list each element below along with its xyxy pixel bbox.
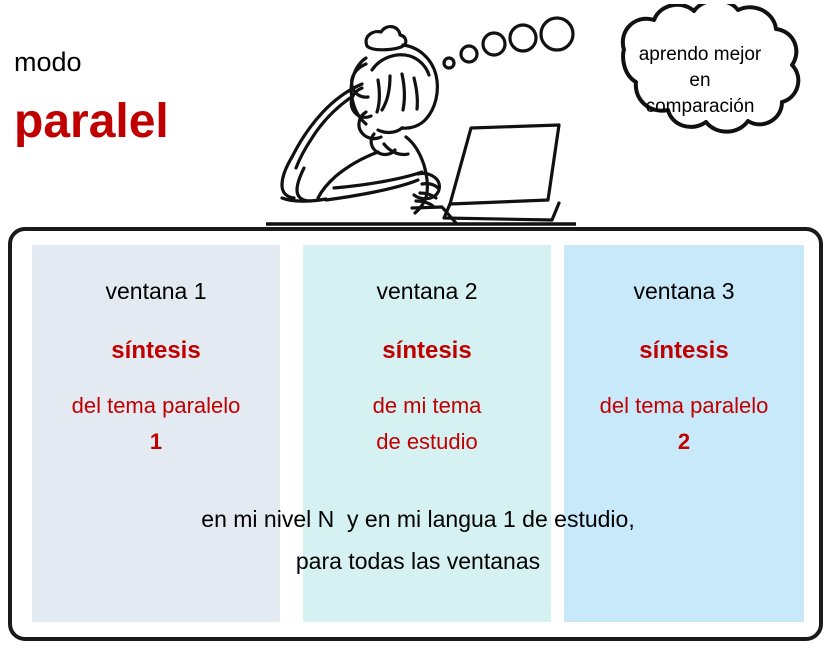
window-2-description: de mi tema de estudio bbox=[303, 388, 551, 460]
window-1-description: del tema paralelo 1 bbox=[32, 388, 280, 460]
thought-line-1: aprendo mejor bbox=[602, 42, 798, 68]
thought-cloud: aprendo mejor en comparación bbox=[566, 4, 834, 174]
person-studying-at-laptop-icon bbox=[266, 4, 576, 229]
window-1-desc-line-1: del tema paralelo bbox=[72, 393, 241, 418]
columns-container: ventana 1 síntesis del tema paralelo 1 v… bbox=[32, 245, 804, 622]
thought-line-3: comparación bbox=[602, 94, 798, 120]
window-1-desc-line-2: 1 bbox=[32, 424, 280, 460]
windows-panel: ventana 1 síntesis del tema paralelo 1 v… bbox=[8, 227, 823, 641]
window-2-desc-line-1: de mi tema bbox=[373, 393, 482, 418]
window-2-desc-line-2: de estudio bbox=[303, 424, 551, 460]
window-column-2[interactable]: ventana 2 síntesis de mi tema de estudio bbox=[303, 245, 551, 622]
thought-line-2: en bbox=[602, 68, 798, 94]
mode-title: paralel bbox=[14, 95, 169, 149]
mode-label: modo bbox=[14, 47, 82, 77]
window-3-label: ventana 3 bbox=[564, 278, 804, 304]
window-1-synthesis: síntesis bbox=[32, 337, 280, 365]
window-2-synthesis: síntesis bbox=[303, 337, 551, 365]
thought-cloud-text: aprendo mejor en comparación bbox=[602, 42, 798, 120]
window-column-1[interactable]: ventana 1 síntesis del tema paralelo 1 bbox=[32, 245, 280, 622]
window-3-description: del tema paralelo 2 bbox=[564, 388, 804, 460]
window-3-synthesis: síntesis bbox=[564, 337, 804, 365]
window-2-label: ventana 2 bbox=[303, 278, 551, 304]
window-column-3[interactable]: ventana 3 síntesis del tema paralelo 2 bbox=[564, 245, 804, 622]
window-1-label: ventana 1 bbox=[32, 278, 280, 304]
window-3-desc-line-2: 2 bbox=[564, 424, 804, 460]
header-area: modo paralel bbox=[0, 0, 834, 227]
window-3-desc-line-1: del tema paralelo bbox=[600, 393, 769, 418]
